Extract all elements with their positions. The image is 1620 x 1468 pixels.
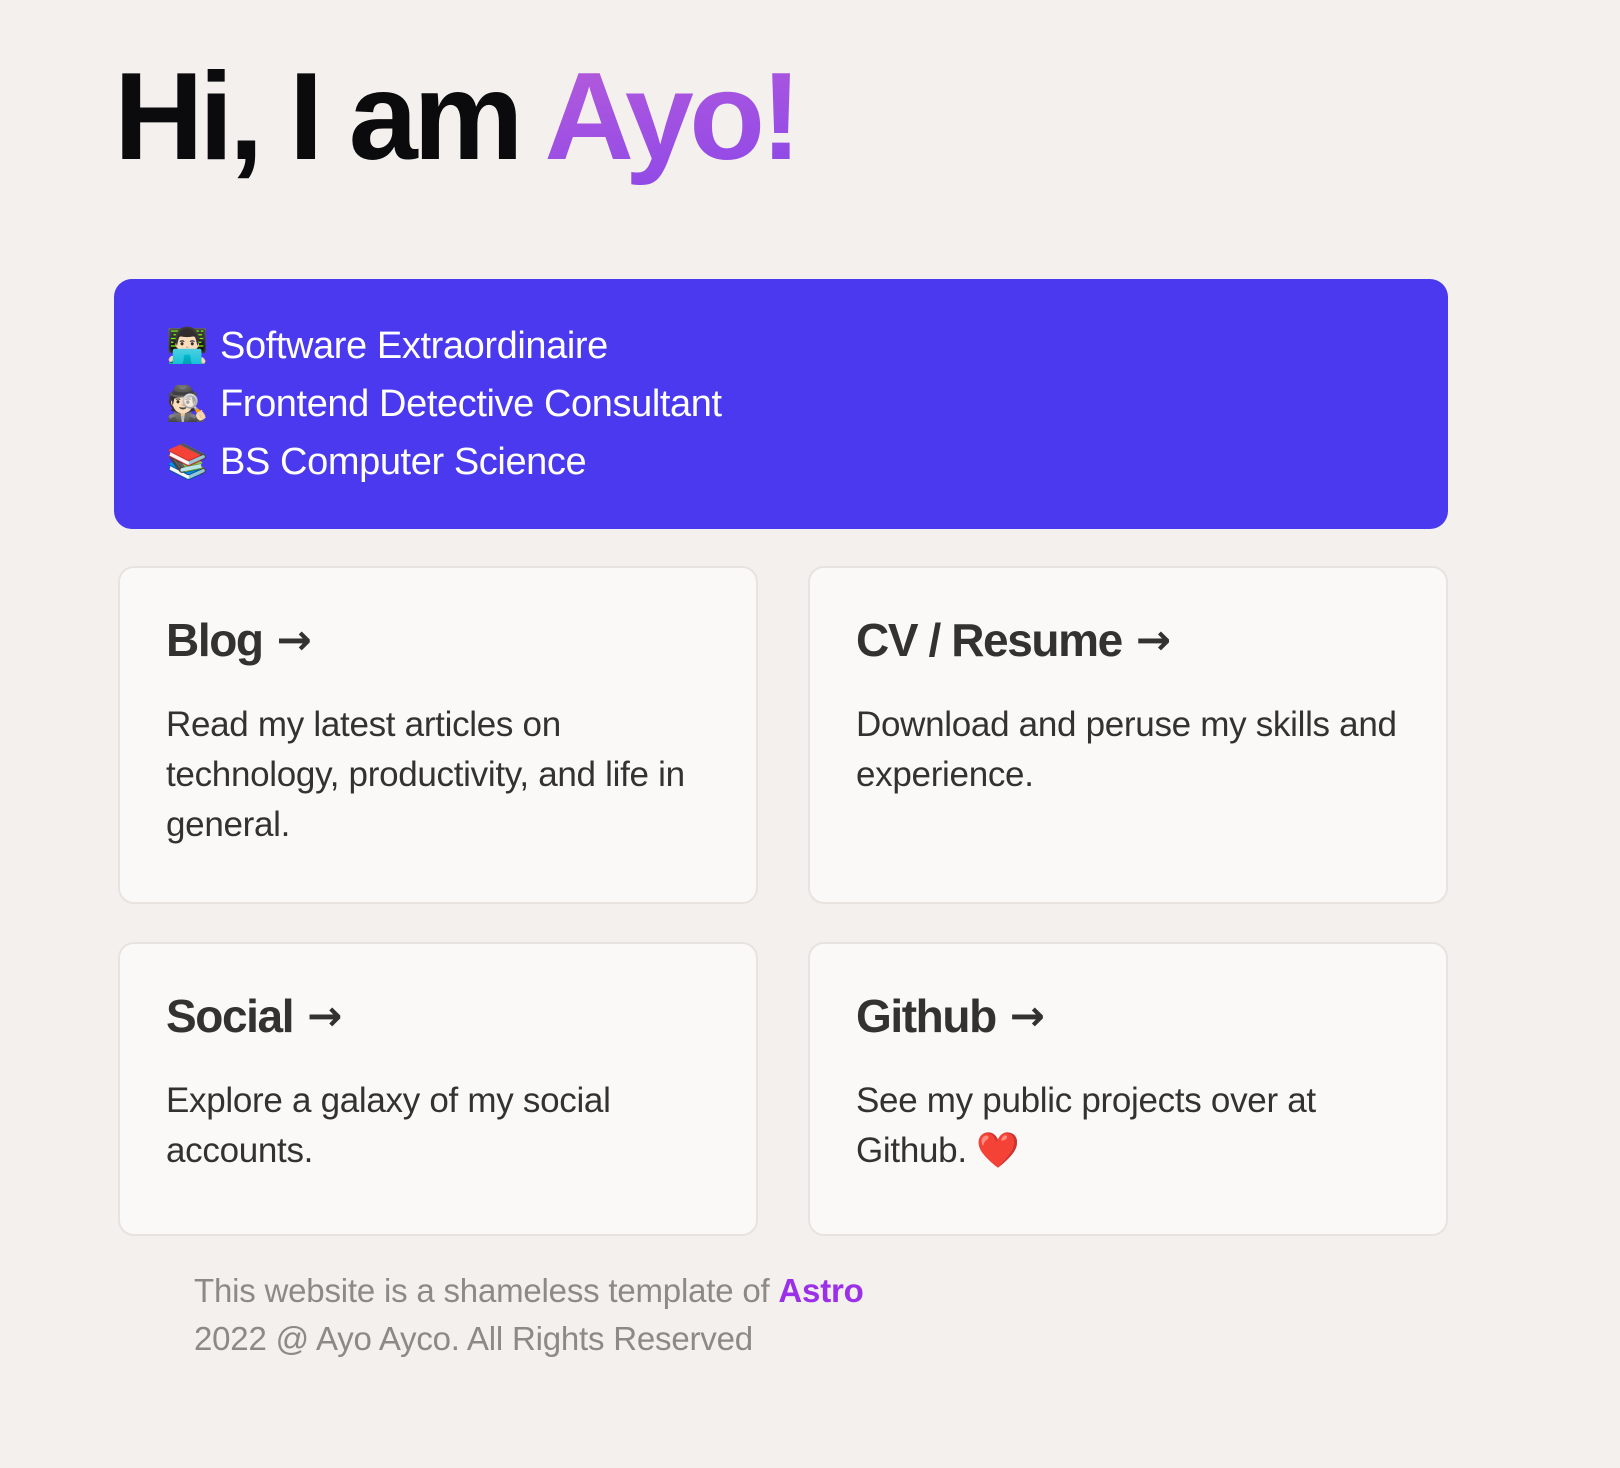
card-social-description: Explore a galaxy of my social accounts. — [166, 1076, 710, 1176]
detective-icon: 🕵🏻 — [166, 387, 206, 421]
card-cv-resume-title: CV / Resume → — [856, 616, 1400, 664]
banner-item-label: Frontend Detective Consultant — [220, 375, 722, 433]
card-github-description: See my public projects over at Github. ❤… — [856, 1076, 1400, 1176]
arrow-right-icon: → — [1010, 995, 1044, 1037]
card-social[interactable]: Social → Explore a galaxy of my social a… — [118, 942, 758, 1236]
astro-link[interactable]: Astro — [778, 1272, 863, 1309]
footer-credit-text: This website is a shameless template of — [194, 1272, 778, 1309]
banner-item-degree: 📚 BS Computer Science — [166, 433, 1396, 491]
card-blog[interactable]: Blog → Read my latest articles on techno… — [118, 566, 758, 904]
card-title-text: Social — [166, 992, 293, 1040]
arrow-right-icon: → — [1136, 619, 1170, 661]
page-title: Hi, I am Ayo! — [114, 46, 797, 189]
books-icon: 📚 — [166, 445, 206, 479]
footer-copyright-line: 2022 @ Ayo Ayco. All Rights Reserved — [194, 1315, 1394, 1363]
card-social-title: Social → — [166, 992, 710, 1040]
banner-item-label: Software Extraordinaire — [220, 317, 608, 375]
hero-greeting: Hi, I am — [114, 48, 544, 186]
banner-item-frontend: 🕵🏻 Frontend Detective Consultant — [166, 375, 1396, 433]
link-card-grid: Blog → Read my latest articles on techno… — [118, 566, 1448, 1236]
card-title-text: Blog — [166, 616, 263, 664]
footer-credit-line: This website is a shameless template of … — [194, 1267, 1394, 1315]
card-github[interactable]: Github → See my public projects over at … — [808, 942, 1448, 1236]
card-blog-title: Blog → — [166, 616, 710, 664]
hero-name-accent: Ayo! — [544, 48, 797, 186]
arrow-right-icon: → — [277, 619, 311, 661]
page-footer: This website is a shameless template of … — [194, 1267, 1394, 1363]
card-title-text: CV / Resume — [856, 616, 1122, 664]
card-cv-resume[interactable]: CV / Resume → Download and peruse my ski… — [808, 566, 1448, 904]
page-root: Hi, I am Ayo! 👨🏻‍💻 Software Extraordinai… — [0, 0, 1620, 1468]
arrow-right-icon: → — [307, 995, 341, 1037]
man-technologist-icon: 👨🏻‍💻 — [166, 329, 206, 363]
card-cv-resume-description: Download and peruse my skills and experi… — [856, 700, 1400, 800]
card-github-title: Github → — [856, 992, 1400, 1040]
card-title-text: Github — [856, 992, 996, 1040]
banner-item-software: 👨🏻‍💻 Software Extraordinaire — [166, 317, 1396, 375]
intro-banner-list: 👨🏻‍💻 Software Extraordinaire 🕵🏻 Frontend… — [166, 317, 1396, 491]
banner-item-label: BS Computer Science — [220, 433, 586, 491]
card-blog-description: Read my latest articles on technology, p… — [166, 700, 710, 850]
intro-banner: 👨🏻‍💻 Software Extraordinaire 🕵🏻 Frontend… — [114, 279, 1448, 529]
